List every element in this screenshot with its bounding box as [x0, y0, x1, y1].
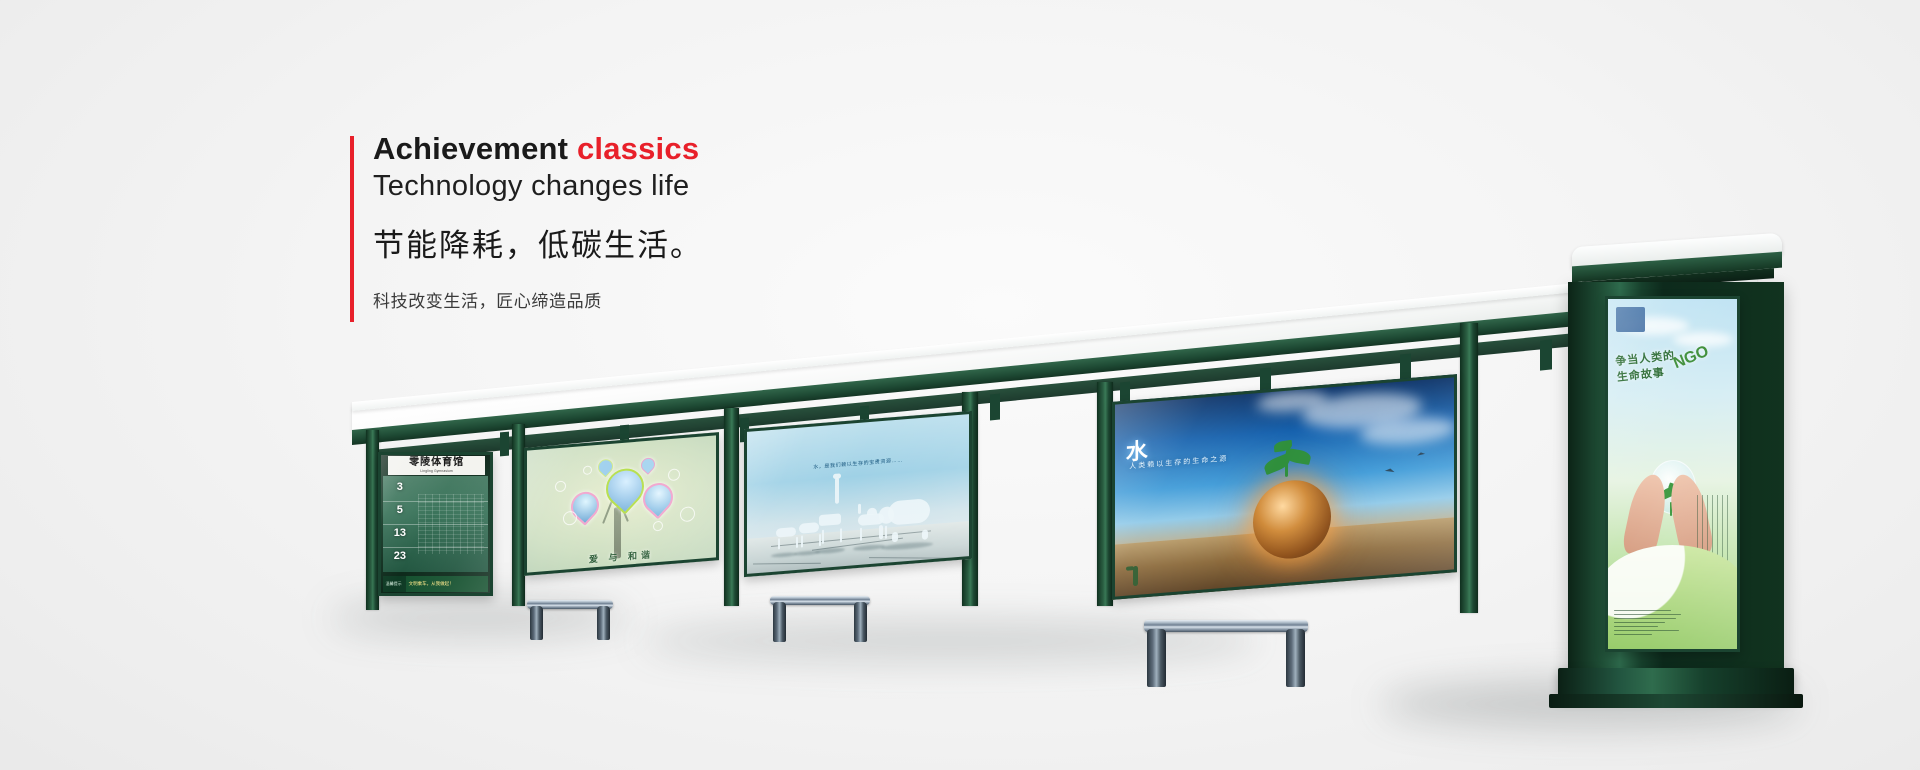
route-board-station-en: Lingling Gymnasium	[420, 469, 452, 473]
green-column-inner: 争当人类的 生命故事 NGO	[1605, 296, 1740, 652]
bench-leg-left	[773, 602, 786, 642]
animal-elephant-trunk	[879, 525, 883, 539]
route-number: 5	[385, 504, 415, 516]
route-board-header: 零陵体育馆 Lingling Gymnasium	[388, 456, 485, 475]
headline-red-rule	[350, 136, 354, 322]
animal-giraffe-body	[819, 513, 841, 526]
bench-2	[770, 596, 870, 636]
tree-bubble	[668, 469, 680, 482]
lightbox-heart-tree[interactable]: 爱 与 和谐	[524, 432, 719, 576]
animal-giraffe-head	[833, 473, 841, 479]
headline-line-1: Achievement classics	[373, 131, 1073, 167]
headline-line-3: 节能降耗，低碳生活。	[373, 220, 1073, 265]
headline-line-4: 科技改变生活，匠心缔造品质	[373, 287, 1073, 312]
lightbox-route-board[interactable]: 零陵体育馆 Lingling Gymnasium 3 5 13 23 温馨提示	[378, 452, 493, 596]
route-number: 3	[385, 481, 415, 493]
green-column-title: 争当人类的 生命故事	[1614, 344, 1730, 388]
heart-tree-inner: 爱 与 和谐	[524, 432, 719, 576]
animals-caption: 水，是我们赖以生存的宝贵资源……	[794, 455, 922, 472]
route-row-divider	[383, 501, 489, 502]
route-number: 13	[385, 527, 415, 539]
lightbox-water-sprout[interactable]: 水 人类赖以生存的生命之源	[1112, 374, 1457, 600]
bench-3	[1144, 620, 1308, 678]
animal-horse-leg	[801, 535, 803, 547]
canopy-rib	[990, 394, 1000, 421]
shelter-post-3	[724, 408, 739, 606]
lightbox-animals-drought[interactable]: 水，是我们赖以生存的宝贵资源……	[744, 411, 972, 577]
route-board-inner: 零陵体育馆 Lingling Gymnasium 3 5 13 23 温馨提示	[378, 452, 493, 596]
bench-1	[527, 600, 613, 634]
sprout-stem	[1285, 463, 1288, 477]
animal-camel-neck	[858, 504, 861, 514]
bird-silhouette	[1416, 452, 1424, 456]
route-row-divider	[383, 524, 489, 525]
animal-camel-hump	[867, 507, 877, 515]
route-number: 23	[385, 550, 415, 562]
lightbox-green-column[interactable]: 争当人类的 生命故事 NGO	[1605, 296, 1740, 652]
route-board-footer-message: 文明乘车，从我做起！	[402, 581, 454, 587]
animals-inner: 水，是我们赖以生存的宝贵资源……	[744, 411, 972, 577]
heart-tree-caption: 爱 与 和谐	[544, 544, 700, 570]
route-board-station-cn: 零陵体育馆	[409, 458, 464, 468]
route-row-divider	[383, 547, 489, 548]
bench-seat	[1144, 620, 1308, 632]
heart-tree-poster: 爱 与 和谐	[524, 432, 719, 576]
bench-leg-right	[1286, 629, 1305, 687]
tree-bubble	[653, 521, 663, 532]
canopy-rib	[500, 432, 509, 457]
green-column-poster: 争当人类的 生命故事 NGO	[1605, 296, 1740, 652]
route-board-poster: 零陵体育馆 Lingling Gymnasium 3 5 13 23 温馨提示	[378, 452, 493, 596]
animal-horse-leg	[778, 539, 780, 550]
bus-shelter-assembly: 零陵体育馆 Lingling Gymnasium 3 5 13 23 温馨提示	[0, 0, 1920, 770]
route-board-footer: 温馨提示 文明乘车，从我做起！	[383, 576, 489, 592]
green-column-body-text	[1614, 610, 1687, 638]
animals-poster: 水，是我们赖以生存的宝贵资源……	[744, 411, 972, 577]
headline-block: Achievement classics Technology changes …	[373, 131, 1073, 312]
animal-elephant-body	[888, 499, 930, 526]
tree-bubble	[583, 465, 592, 475]
animal-horse-leg	[819, 534, 821, 546]
water-poster: 水 人类赖以生存的生命之源	[1112, 374, 1457, 600]
tree-bubble	[563, 510, 577, 525]
canopy-rib	[1540, 339, 1552, 370]
animal-giraffe-leg	[840, 528, 842, 542]
bench-leg-left	[530, 606, 543, 640]
bench-leg-left	[1147, 629, 1166, 687]
banner-stage: Achievement classics Technology changes …	[0, 0, 1920, 770]
headline-line-2: Technology changes life	[373, 169, 1073, 204]
tree-bubble	[680, 506, 695, 522]
route-board-footer-tag: 温馨提示	[383, 581, 402, 587]
pylon-base-plinth	[1549, 694, 1803, 708]
organization-logo	[1616, 307, 1646, 332]
headline-line-1-prefix: Achievement	[373, 131, 577, 166]
shelter-post-6	[1460, 323, 1478, 613]
water-inner: 水 人类赖以生存的生命之源	[1112, 374, 1457, 600]
bird-silhouette	[1384, 468, 1394, 472]
animal-elephant-leg	[922, 530, 928, 540]
bench-leg-right	[597, 606, 610, 640]
tree-bubble	[555, 480, 566, 492]
headline-line-1-accent: classics	[577, 131, 699, 166]
shelter-post-5	[1097, 382, 1113, 606]
tree-heart-topright	[638, 455, 658, 475]
animal-camel-leg	[860, 528, 862, 541]
bench-leg-right	[854, 602, 867, 642]
animal-giraffe-neck	[835, 478, 839, 504]
animal-giraffe-leg	[822, 529, 824, 543]
